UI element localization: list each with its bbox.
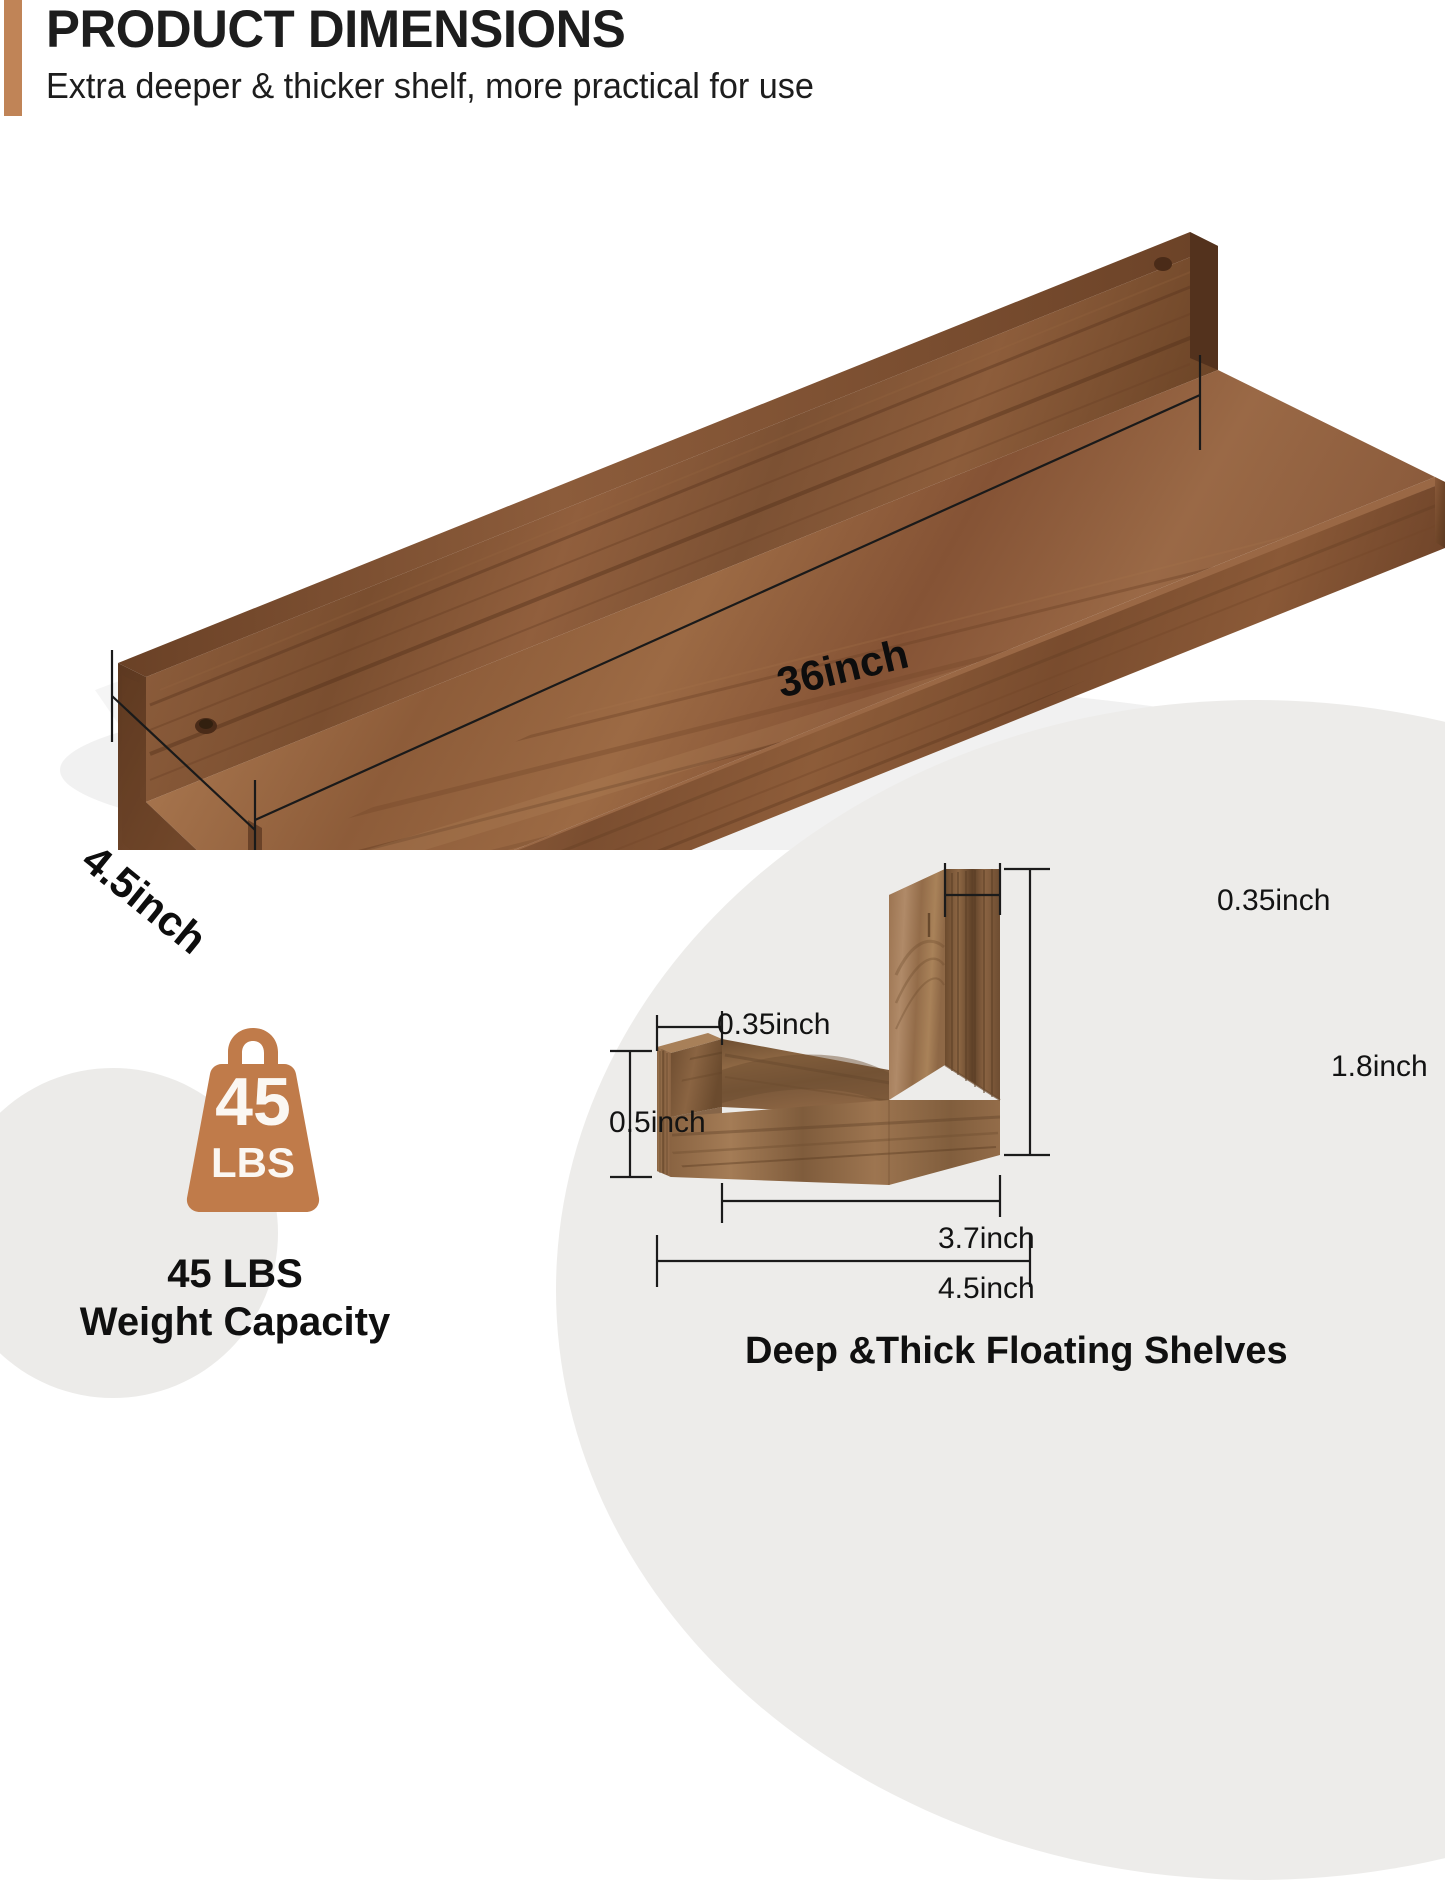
page-subtitle: Extra deeper & thicker shelf, more pract…	[46, 66, 814, 106]
page-title: PRODUCT DIMENSIONS	[46, 2, 625, 58]
label-inner-width: 3.7inch	[938, 1222, 1035, 1256]
detail-caption: Deep &Thick Floating Shelves	[745, 1330, 1288, 1373]
header-block: PRODUCT DIMENSIONS Extra deeper & thicke…	[0, 0, 1200, 130]
label-front-lip-thickness: 0.35inch	[717, 1008, 830, 1042]
mounting-hole-right	[1154, 257, 1172, 271]
weight-badge-number: 45	[168, 1068, 338, 1136]
label-front-lip-height: 0.5inch	[609, 1106, 706, 1140]
label-outer-width: 4.5inch	[938, 1272, 1035, 1306]
depth-dimension-label: 4.5inch	[73, 835, 216, 963]
label-back-lip-height: 1.8inch	[1331, 1050, 1428, 1084]
weight-badge-unit: LBS	[168, 1142, 338, 1184]
weight-caption-line2: Weight Capacity	[0, 1300, 470, 1345]
infographic-canvas: PRODUCT DIMENSIONS Extra deeper & thicke…	[0, 0, 1445, 1446]
weight-badge: 45 LBS	[168, 1020, 338, 1220]
header-accent-bar	[4, 0, 22, 116]
label-back-lip-thickness: 0.35inch	[1217, 884, 1330, 918]
mounting-hole-left	[195, 718, 217, 734]
weight-caption-line1: 45 LBS	[0, 1252, 470, 1297]
